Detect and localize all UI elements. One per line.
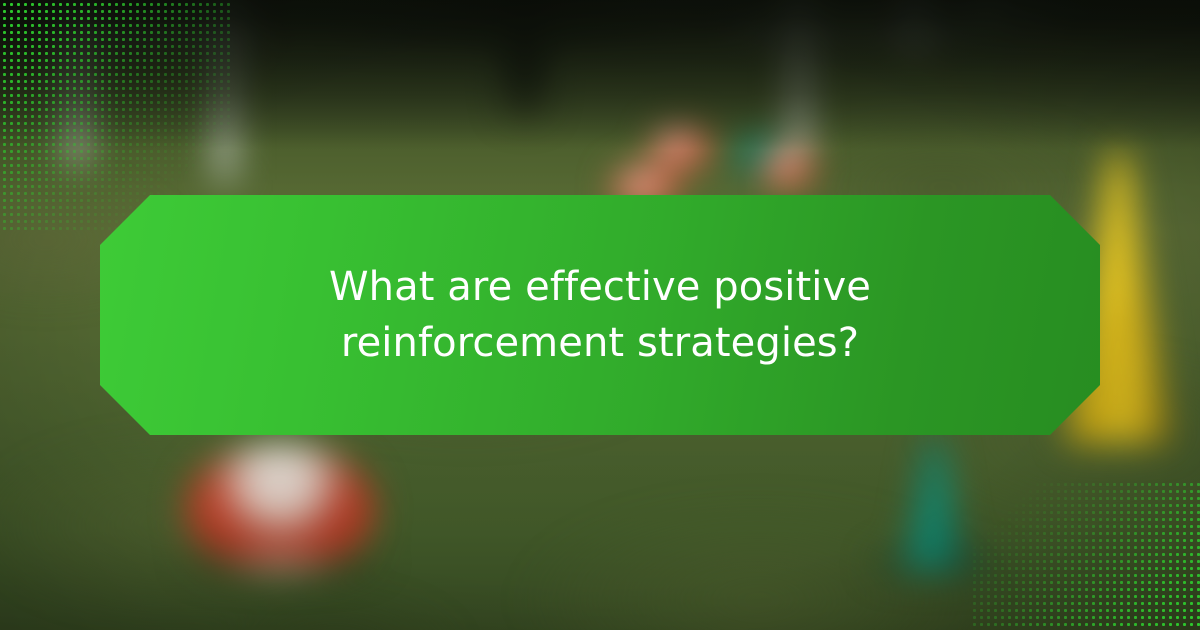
dot-pattern-bottom-right-icon xyxy=(970,480,1200,630)
page-title: What are effective positive reinforcemen… xyxy=(230,259,970,371)
social-card: What are effective positive reinforcemen… xyxy=(0,0,1200,630)
headline-banner: What are effective positive reinforcemen… xyxy=(100,195,1100,435)
